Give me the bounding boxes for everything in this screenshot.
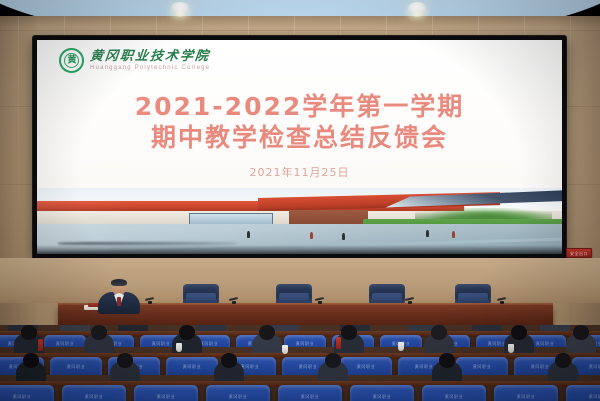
school-name-cn: 黄冈职业技术学院 — [89, 50, 211, 64]
seat-logo-text: 黄冈职业 — [589, 394, 600, 400]
seated-speaker — [96, 280, 142, 312]
attendee-head — [179, 325, 195, 340]
seat-logo-text: 黄冈职业 — [67, 364, 85, 370]
microphone-base — [408, 301, 412, 304]
water-bottle — [38, 339, 43, 351]
seat-logo-text: 黄冈职业 — [13, 394, 31, 400]
conference-hall-photo: 黄 黄冈职业技术学院 Huanggang Polytechnic College… — [0, 0, 600, 401]
audience-seat: 黄冈职业 — [134, 385, 198, 401]
attendee-head — [221, 353, 237, 368]
slide-title-line-2: 期中教学检查总结反馈会 — [37, 123, 562, 154]
ceiling-spotlight-right — [408, 2, 426, 15]
seat-logo-text: 黄冈职业 — [445, 394, 463, 400]
ceiling-spotlight-left — [171, 2, 189, 15]
audience-seat: 黄冈职业 — [0, 385, 54, 401]
seat-logo-text: 黄冈职业 — [85, 394, 103, 400]
seat-logo-text: 黄冈职业 — [200, 341, 218, 347]
paper-cup — [176, 343, 182, 352]
attendee-head — [341, 325, 357, 340]
microphone-base — [148, 301, 152, 304]
microphone-base — [232, 301, 236, 304]
school-name-block: 黄冈职业技术学院 Huanggang Polytechnic College — [90, 50, 210, 72]
seat-logo-text: 黄冈职业 — [536, 341, 554, 347]
paper-cup — [398, 342, 404, 351]
seat-logo-text: 黄冈职业 — [299, 364, 317, 370]
attendee-head — [431, 325, 447, 340]
attendee-head — [21, 325, 37, 340]
audience-seat: 黄冈职业 — [206, 385, 270, 401]
paper-cup — [282, 345, 288, 354]
seat-logo-text: 黄冈职业 — [296, 341, 314, 347]
audience-seat: 黄冈职业 — [566, 385, 600, 401]
seat-logo-text: 黄冈职业 — [589, 364, 600, 370]
seat-logo-text: 黄冈职业 — [517, 394, 535, 400]
attendee-head — [573, 325, 589, 340]
paper-cup — [508, 344, 514, 353]
microphone-base — [500, 301, 504, 304]
attendee-head — [91, 325, 107, 340]
school-logo-block: 黄 黄冈职业技术学院 Huanggang Polytechnic College — [59, 48, 210, 73]
speaker-tie — [117, 297, 121, 306]
screen-bottom-shade — [37, 245, 562, 254]
slide-date: 2021年11月25日 — [37, 164, 562, 180]
emergency-exit-sign: 安全出口 — [566, 248, 592, 258]
audience-seat: 黄冈职业 — [350, 385, 414, 401]
attendee-head — [259, 325, 275, 340]
school-seal-icon: 黄 — [59, 48, 84, 73]
seat-logo-text: 黄冈职业 — [56, 341, 74, 347]
audience-seat: 黄冈职业 — [494, 385, 558, 401]
audience-area: 黄冈职业黄冈职业黄冈职业黄冈职业黄冈职业黄冈职业黄冈职业黄冈职业黄冈职业黄冈职业… — [0, 325, 600, 401]
seat-logo-text: 黄冈职业 — [183, 364, 201, 370]
attendee-head — [23, 353, 39, 368]
school-name-en: Huanggang Polytechnic College — [90, 65, 210, 71]
seat-logo-text: 黄冈职业 — [152, 341, 170, 347]
seat-logo-text: 黄冈职业 — [531, 364, 549, 370]
seat-logo-text: 黄冈职业 — [473, 364, 491, 370]
seat-logo-text: 黄冈职业 — [373, 394, 391, 400]
led-screen: 黄 黄冈职业技术学院 Huanggang Polytechnic College… — [37, 40, 562, 254]
led-screen-frame: 黄 黄冈职业技术学院 Huanggang Polytechnic College… — [33, 36, 566, 259]
slide-title-line-1: 2021-2022学年第一学期 — [37, 92, 562, 123]
attendee-head — [511, 325, 527, 340]
seat-logo-text: 黄冈职业 — [229, 394, 247, 400]
microphone-base — [318, 301, 322, 304]
slide-title-block: 2021-2022学年第一学期 期中教学检查总结反馈会 — [37, 92, 562, 154]
attendee-head — [555, 353, 571, 368]
water-bottle — [336, 337, 341, 349]
seat-logo-text: 黄冈职业 — [301, 394, 319, 400]
audience-seat: 黄冈职业 — [278, 385, 342, 401]
seat-logo-text: 黄冈职业 — [357, 364, 375, 370]
seat-logo-text: 黄冈职业 — [157, 394, 175, 400]
attendee-head — [439, 353, 455, 368]
wall-seam-horizontal — [0, 30, 600, 31]
audience-seat: 黄冈职业 — [422, 385, 486, 401]
attendee-head — [325, 353, 341, 368]
seat-logo-text: 黄冈职业 — [415, 364, 433, 370]
speaker-hair — [111, 279, 127, 286]
audience-seat: 黄冈职业 — [62, 385, 126, 401]
attendee-head — [117, 353, 133, 368]
seal-glyph: 黄 — [67, 56, 75, 65]
